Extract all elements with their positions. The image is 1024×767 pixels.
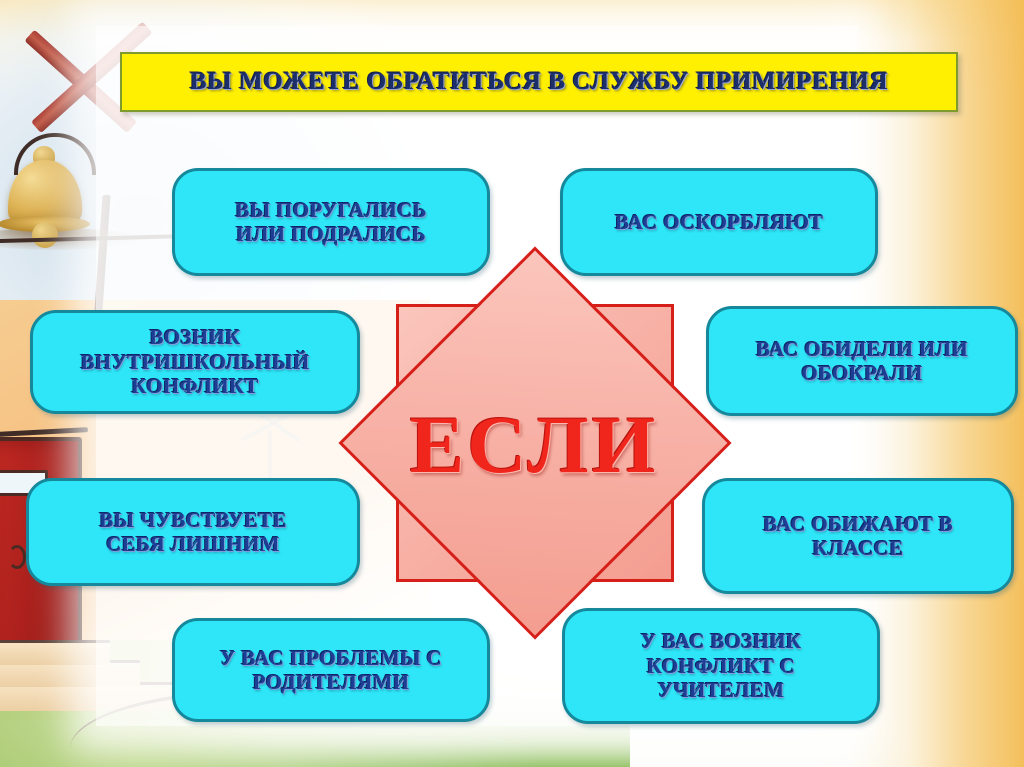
condition-label: У ВАС ПРОБЛЕМЫ СРОДИТЕЛЯМИ (220, 646, 442, 695)
condition-box-robbed[interactable]: ВАС ОБИДЕЛИ ИЛИОБОКРАЛИ (706, 306, 1018, 416)
page-title: ВЫ МОЖЕТЕ ОБРАТИТЬСЯ В СЛУЖБУ ПРИМИРЕНИЯ (190, 68, 888, 96)
condition-box-lonely[interactable]: ВЫ ЧУВСТВУЕТЕСЕБЯ ЛИШНИМ (26, 478, 360, 586)
condition-label: У ВАС ВОЗНИККОНФЛИКТ СУЧИТЕЛЕМ (641, 629, 802, 702)
center-star: ЕСЛИ (348, 254, 720, 636)
condition-box-bullied-in-class[interactable]: ВАС ОБИЖАЮТ ВКЛАССЕ (702, 478, 1014, 594)
condition-label: ВОЗНИКВНУТРИШКОЛЬНЫЙКОНФЛИКТ (81, 325, 310, 398)
center-star-label: ЕСЛИ (348, 254, 720, 636)
bell-clapper-icon (32, 222, 58, 248)
entry-step-top (0, 640, 110, 665)
door-handle-icon (8, 545, 26, 569)
slide-canvas: ВЫ МОЖЕТЕ ОБРАТИТЬСЯ В СЛУЖБУ ПРИМИРЕНИЯ… (0, 0, 1024, 767)
title-banner: ВЫ МОЖЕТЕ ОБРАТИТЬСЯ В СЛУЖБУ ПРИМИРЕНИЯ (120, 52, 958, 112)
condition-box-school-conflict[interactable]: ВОЗНИКВНУТРИШКОЛЬНЫЙКОНФЛИКТ (30, 310, 360, 414)
condition-label: ВАС ОСКОРБЛЯЮТ (615, 210, 823, 234)
condition-label: ВАС ОБИЖАЮТ ВКЛАССЕ (763, 512, 953, 561)
condition-label: ВЫ ЧУВСТВУЕТЕСЕБЯ ЛИШНИМ (99, 508, 287, 557)
condition-label: ВЫ ПОРУГАЛИСЬИЛИ ПОДРАЛИСЬ (235, 198, 426, 247)
condition-label: ВАС ОБИДЕЛИ ИЛИОБОКРАЛИ (756, 337, 968, 386)
